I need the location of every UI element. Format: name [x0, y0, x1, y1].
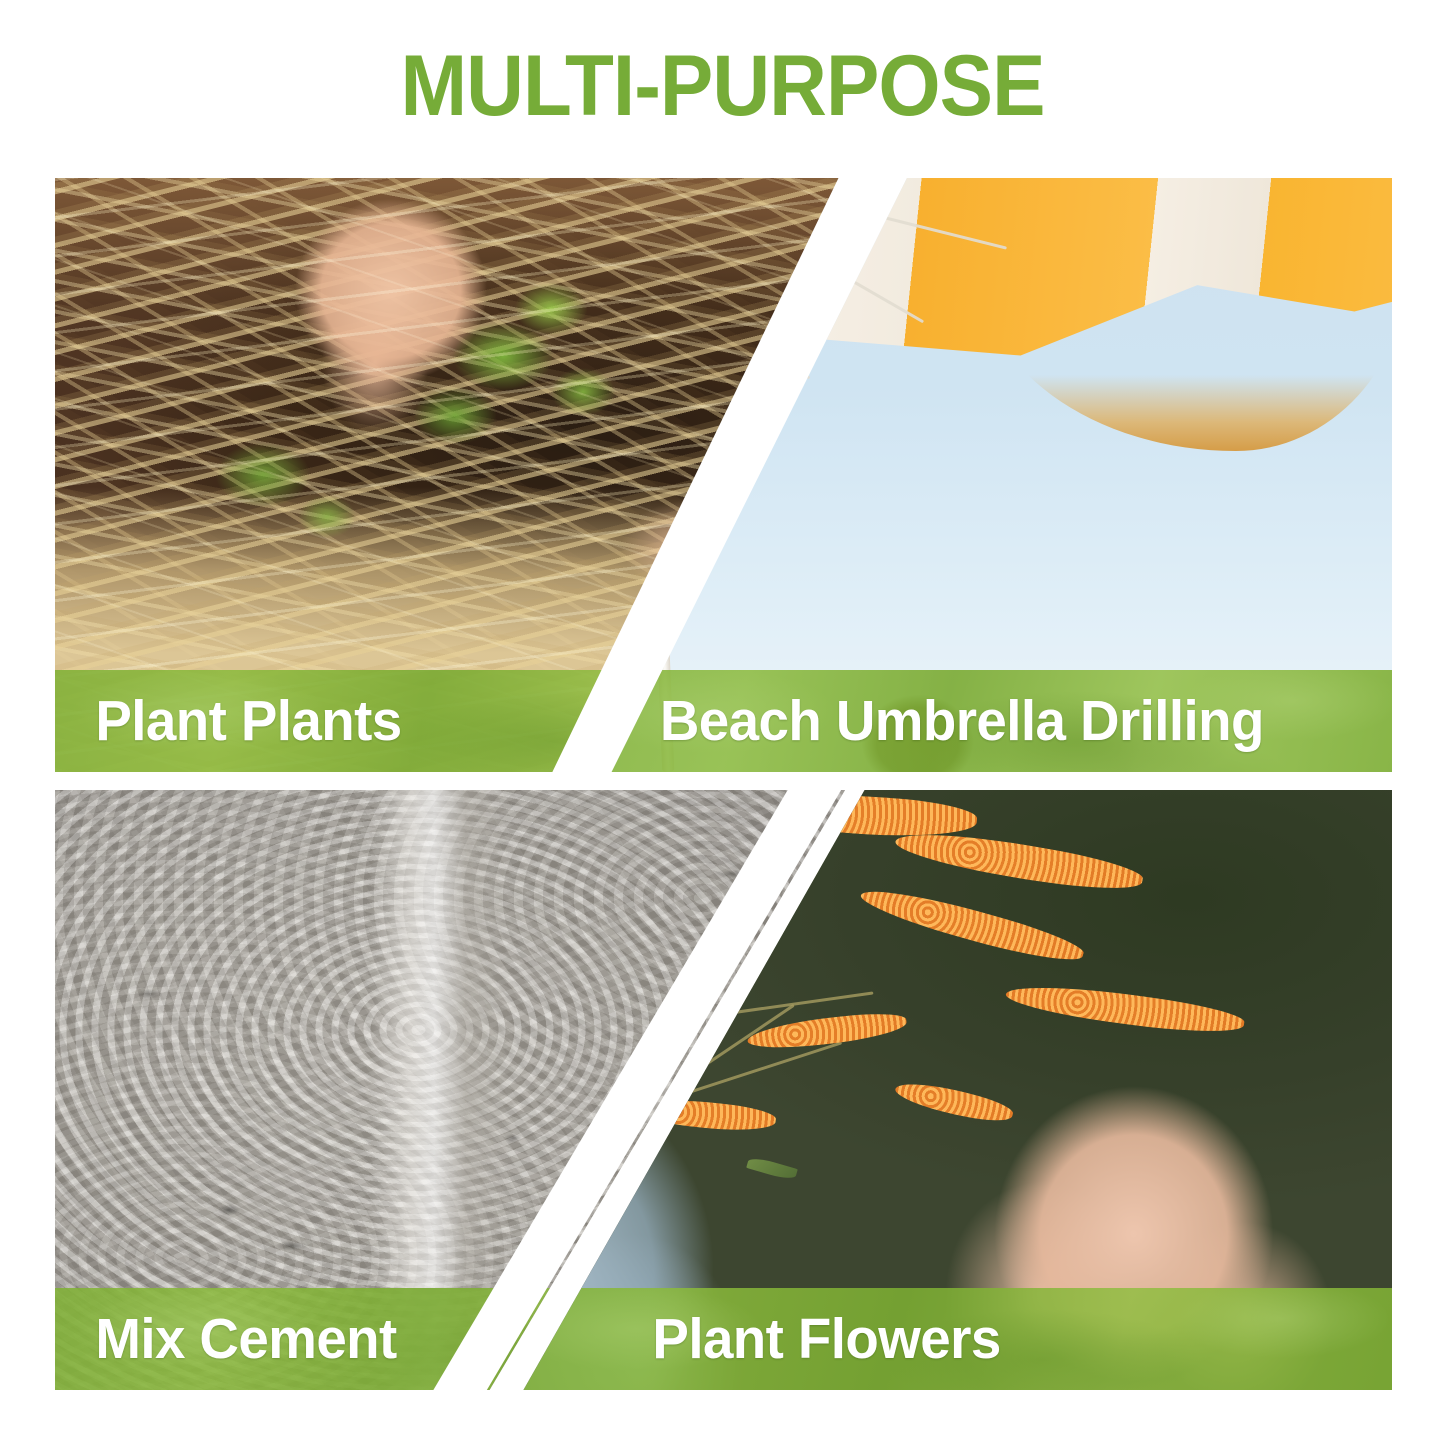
flower-spray-icon [893, 1076, 1015, 1128]
plant-flowers-label-banner: Plant Flowers [470, 1288, 1392, 1390]
beach-umbrella-label-banner: Beach Umbrella Drilling [560, 670, 1392, 772]
plant-flowers-label: Plant Flowers [470, 1311, 1001, 1368]
flower-spray-icon [858, 879, 1087, 971]
page-title: MULTI-PURPOSE [51, 38, 1395, 134]
plant-plants-label: Plant Plants [55, 693, 402, 750]
mix-cement-label: Mix Cement [55, 1311, 397, 1368]
beach-umbrella-label: Beach Umbrella Drilling [560, 693, 1264, 750]
feature-collage: Plant Plants Beach Umbrella Drill [55, 178, 1392, 1390]
flower-leaf-icon [746, 1155, 798, 1181]
flower-spray-icon [1004, 977, 1246, 1040]
flower-spray-icon [893, 823, 1145, 900]
collage-row-bottom: Mix Cement [55, 790, 1392, 1390]
umbrella-canopy-edge [976, 261, 1392, 451]
multi-purpose-collage-page: MULTI-PURPOSE Plant Plants [0, 0, 1445, 1445]
collage-row-top: Plant Plants Beach Umbrella Drill [55, 178, 1392, 772]
